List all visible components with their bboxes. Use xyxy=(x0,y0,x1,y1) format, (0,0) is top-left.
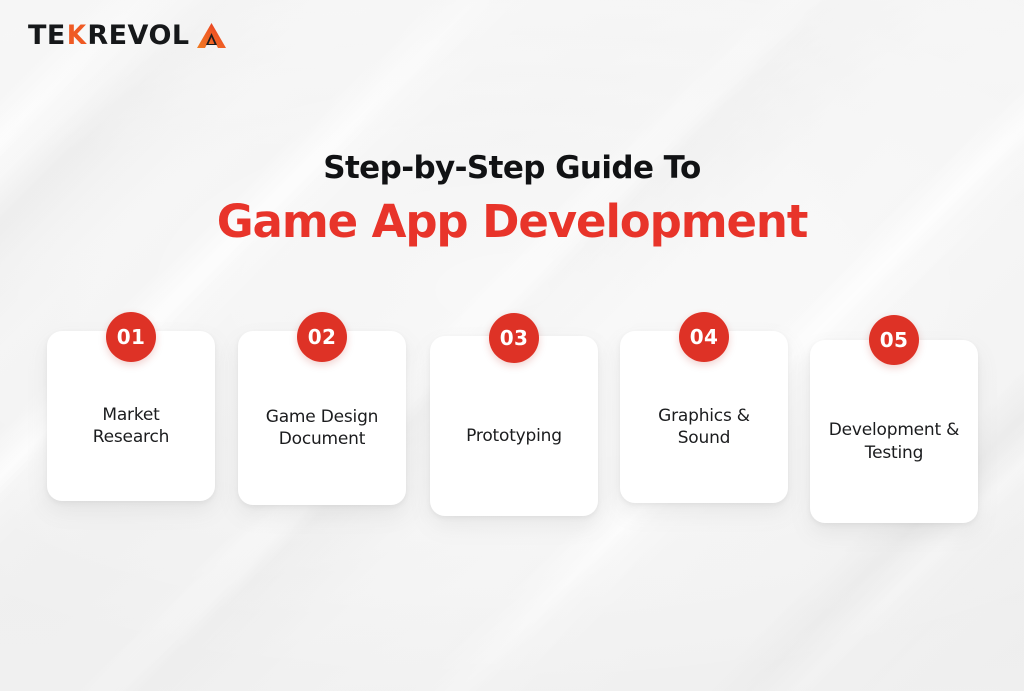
steps-row: Market Research 01 Game Design Document … xyxy=(47,312,978,527)
step-card-03[interactable]: Prototyping xyxy=(430,336,598,516)
logo-text-accent-k: K xyxy=(67,22,87,49)
heading-block: Step-by-Step Guide To Game App Developme… xyxy=(0,150,1024,249)
step-card-05[interactable]: Development & Testing xyxy=(810,340,978,523)
logo-text-part1: TE xyxy=(28,22,66,49)
headline-subtitle: Step-by-Step Guide To xyxy=(0,150,1024,187)
tekrevol-logo[interactable]: TEKREVOL xyxy=(28,18,227,52)
step-label-05: Development & Testing xyxy=(829,419,960,464)
step-number-badge-01: 01 xyxy=(106,312,156,362)
step-label-01: Market Research xyxy=(93,404,169,449)
step-label-02: Game Design Document xyxy=(266,406,379,451)
step-number-badge-03: 03 xyxy=(489,313,539,363)
infographic-canvas: TEKREVOL Step-by-Step Guide To Game App … xyxy=(0,0,1024,691)
headline-title: Game App Development xyxy=(0,195,1024,249)
tekrevol-triangle-mark-icon xyxy=(196,22,227,49)
step-label-04: Graphics & Sound xyxy=(658,405,750,450)
logo-wordmark: TEKREVOL xyxy=(28,22,190,49)
step-number-badge-05: 05 xyxy=(869,315,919,365)
step-number-badge-02: 02 xyxy=(297,312,347,362)
step-label-03: Prototyping xyxy=(466,425,562,447)
logo-text-part2: REVOL xyxy=(87,22,189,49)
step-number-badge-04: 04 xyxy=(679,312,729,362)
